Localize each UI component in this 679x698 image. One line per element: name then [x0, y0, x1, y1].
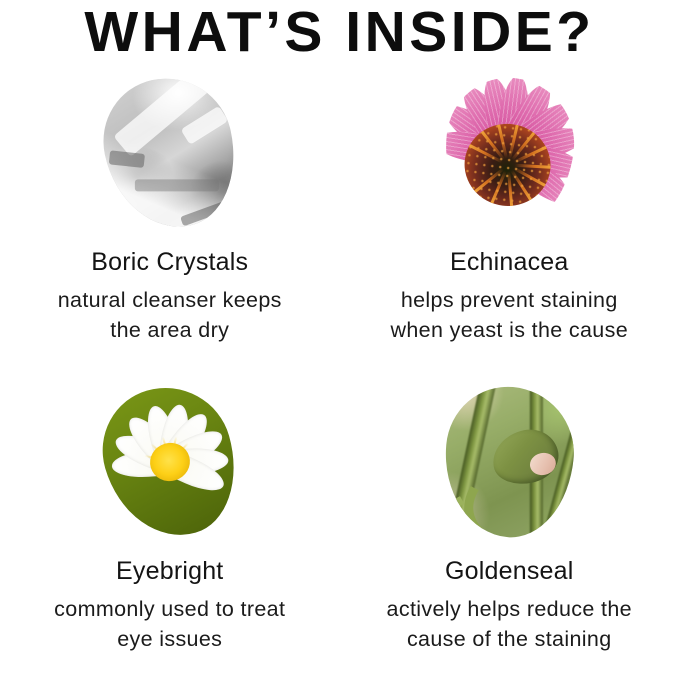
- crystal-facet-icon: [135, 179, 219, 191]
- ingredient-card-echinacea: Echinacea helps prevent staining when ye…: [340, 72, 679, 381]
- goldenseal-texture: [439, 382, 580, 543]
- ingredient-grid: Boric Crystals natural cleanser keeps th…: [0, 72, 679, 690]
- crystal-texture: [92, 66, 248, 239]
- echinacea-flower-photo: [437, 71, 582, 235]
- goldenseal-plant-photo: [439, 382, 580, 543]
- ingredient-card-boric-crystals: Boric Crystals natural cleanser keeps th…: [0, 72, 340, 381]
- crystal-facet-icon: [179, 199, 232, 226]
- echinacea-texture: [437, 71, 582, 235]
- crystal-facet-icon: [113, 67, 213, 157]
- boric-crystals-image-wrap: [90, 72, 250, 234]
- cone-texture: [460, 119, 555, 211]
- ingredient-name: Goldenseal: [445, 556, 573, 586]
- eyebright-texture: [88, 372, 252, 551]
- eyebright-daisy-photo: [88, 372, 252, 551]
- page-title: WHAT’S INSIDE?: [0, 0, 679, 62]
- ingredient-name: Echinacea: [450, 247, 569, 277]
- eyebright-image-wrap: [90, 381, 250, 543]
- crystal-facet-icon: [108, 150, 144, 168]
- ingredient-description: helps prevent staining when yeast is the…: [390, 285, 628, 345]
- ingredient-description: commonly used to treat eye issues: [54, 594, 285, 654]
- flower-cone-center: [460, 119, 555, 211]
- goldenseal-image-wrap: [429, 381, 589, 543]
- echinacea-image-wrap: [429, 72, 589, 234]
- boric-crystals-photo: [92, 66, 248, 239]
- ingredient-name: Boric Crystals: [91, 247, 248, 277]
- crystal-facet-icon: [181, 106, 229, 146]
- ingredient-name: Eyebright: [116, 556, 223, 586]
- ingredient-card-eyebright: Eyebright commonly used to treat eye iss…: [0, 381, 340, 690]
- ingredient-description: actively helps reduce the cause of the s…: [387, 594, 632, 654]
- ingredient-card-goldenseal: Goldenseal actively helps reduce the cau…: [340, 381, 679, 690]
- ingredient-description: natural cleanser keeps the area dry: [58, 285, 282, 345]
